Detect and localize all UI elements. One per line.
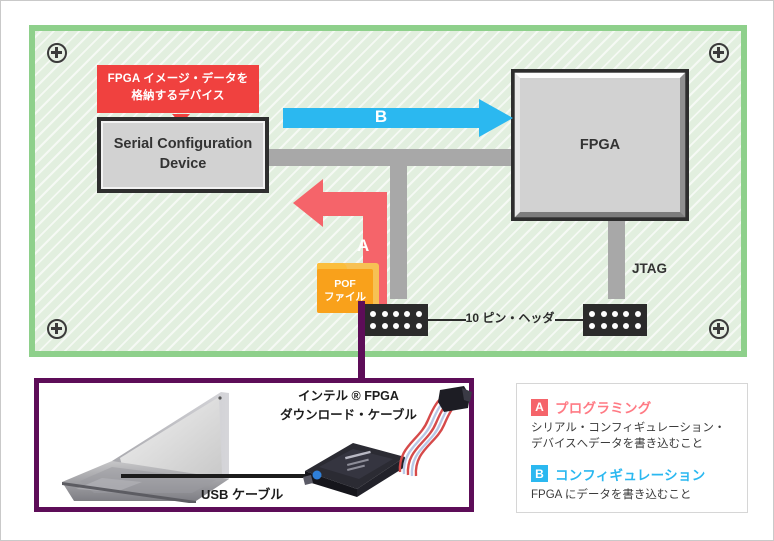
pof-label-line-1: POF	[334, 278, 356, 291]
screw-hole-icon-top-left	[47, 43, 67, 63]
usb-cable-label: USB ケーブル	[201, 484, 283, 503]
download-cable-wire	[358, 301, 365, 379]
fpga-chip: FPGA	[513, 71, 687, 219]
header-connector-right	[583, 304, 647, 336]
legend-body-a-line-2: デバイスへデータを書き込むこと	[531, 436, 735, 452]
trace-vertical-to-right-header	[608, 231, 625, 299]
fpga-label: FPGA	[580, 137, 620, 153]
legend-badge-a: A	[531, 399, 548, 416]
ribbon-cable-icon	[394, 386, 474, 486]
legend-body-a: シリアル・コンフィギュレーション・ デバイスへデータを書き込むこと	[531, 420, 735, 453]
pcb-board: FPGA イメージ・データを 格納するデバイス Serial Configura…	[29, 25, 747, 357]
scd-label-line-2: Device	[114, 155, 253, 175]
legend-item-b-header: B コンフィギュレーション	[531, 464, 735, 484]
header-label: 10 ピン・ヘッダ	[460, 309, 560, 326]
serial-configuration-device-chip: Serial Configuration Device	[97, 117, 269, 193]
legend-item-a-header: A プログラミング	[531, 397, 735, 417]
legend-title-b: コンフィギュレーション	[555, 464, 706, 484]
legend-badge-b: B	[531, 465, 548, 482]
legend-body-b: FPGA にデータを書き込むこと	[531, 487, 735, 503]
jtag-label: JTAG	[632, 261, 667, 276]
legend-body-a-line-1: シリアル・コンフィギュレーション・	[531, 420, 735, 436]
usb-cable-line	[121, 474, 311, 478]
arrow-b-label: B	[283, 107, 479, 127]
callout-line-1: FPGA イメージ・データを	[102, 71, 254, 88]
screw-hole-icon-bottom-right	[709, 319, 729, 339]
screw-hole-icon-top-right	[709, 43, 729, 63]
legend-item-configuration: B コンフィギュレーション FPGA にデータを書き込むこと	[531, 464, 735, 503]
scd-label-line-1: Serial Configuration	[114, 135, 253, 155]
callout-serial-config-device: FPGA イメージ・データを 格納するデバイス	[97, 65, 259, 113]
header-connector-left	[364, 304, 428, 336]
callout-line-2: 格納するデバイス	[102, 88, 254, 105]
diagram-root: FPGA イメージ・データを 格納するデバイス Serial Configura…	[0, 0, 774, 541]
screw-hole-icon-bottom-left	[47, 319, 67, 339]
legend-title-a: プログラミング	[555, 397, 652, 417]
legend-box: A プログラミング シリアル・コンフィギュレーション・ デバイスへデータを書き込…	[516, 383, 748, 513]
legend-body-b-line-1: FPGA にデータを書き込むこと	[531, 487, 735, 503]
legend-item-programming: A プログラミング シリアル・コンフィギュレーション・ デバイスへデータを書き込…	[531, 397, 735, 453]
arrow-a-label: A	[357, 236, 369, 256]
